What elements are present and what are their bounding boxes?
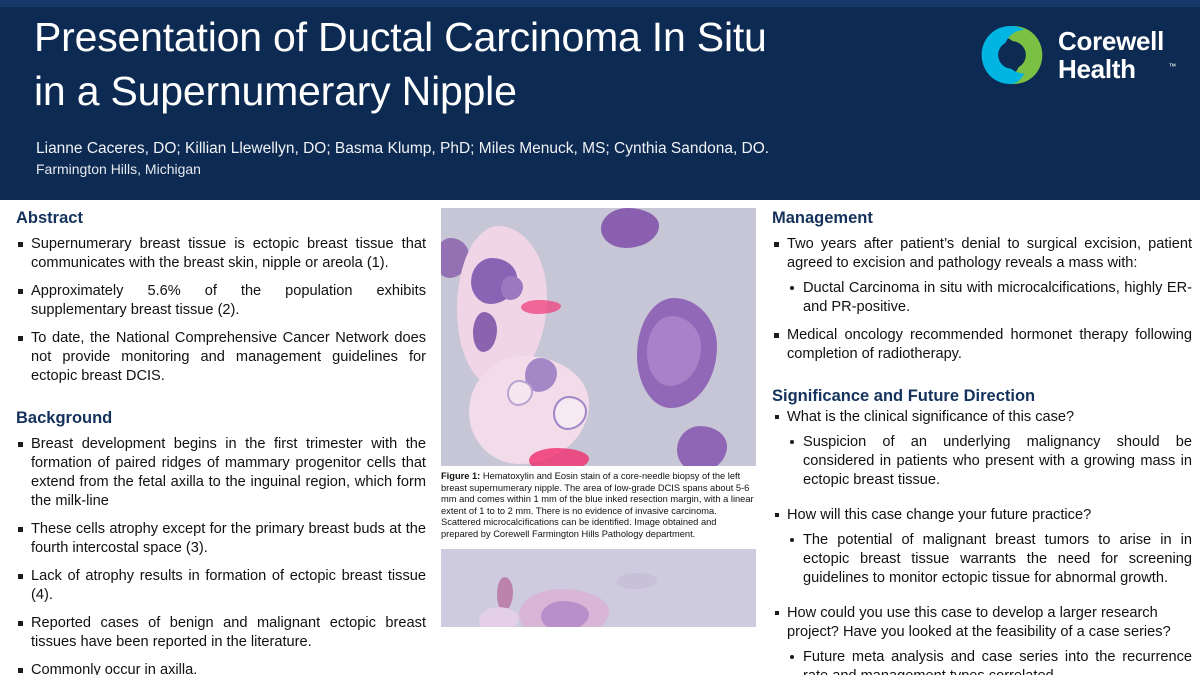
corewell-health-logo: Corewell Health ™ (979, 22, 1164, 88)
management-sub-list: Ductal Carcinoma in situ with microcalci… (787, 279, 1192, 317)
list-item-text: How could you use this case to develop a… (787, 605, 1171, 640)
poster-header: Presentation of Ductal Carcinoma In Situ… (0, 0, 1200, 200)
significance-question-list-2: How will this case change your future pr… (772, 506, 1192, 588)
list-item: Suspicion of an underlying malignancy sh… (787, 433, 1192, 490)
section-spacer (772, 497, 1192, 506)
tissue-fragment (521, 300, 561, 314)
tissue-fragment (497, 577, 513, 611)
section-heading-management: Management (772, 208, 1192, 229)
list-item: Lack of atrophy results in formation of … (16, 567, 426, 605)
histology-image-1 (441, 208, 756, 466)
abstract-bullet-list: Supernumerary breast tissue is ectopic b… (16, 235, 426, 386)
corewell-swoosh-icon (979, 22, 1045, 88)
list-item: Breast development begins in the first t… (16, 435, 426, 511)
section-spacer (16, 395, 426, 408)
list-item: How could you use this case to develop a… (772, 604, 1192, 675)
logo-word-corewell: Corewell (1058, 27, 1164, 55)
list-item: Future meta analysis and case series int… (787, 648, 1192, 675)
list-item: Ductal Carcinoma in situ with microcalci… (787, 279, 1192, 317)
list-item: Reported cases of benign and malignant e… (16, 614, 426, 652)
list-item-text: Two years after patient’s denial to surg… (787, 236, 1192, 271)
tissue-fragment (601, 208, 659, 248)
poster-canvas: Presentation of Ductal Carcinoma In Situ… (0, 0, 1200, 675)
significance-answer-list: Future meta analysis and case series int… (787, 648, 1192, 675)
section-spacer (772, 373, 1192, 386)
figure-label: Figure 1: (441, 471, 480, 481)
list-item: Two years after patient’s denial to surg… (772, 235, 1192, 317)
tissue-fragment (617, 573, 657, 589)
figure-caption-text: Hematoxylin and Eosin stain of a core-ne… (441, 471, 754, 539)
author-list: Lianne Caceres, DO; Killian Llewellyn, D… (36, 138, 966, 159)
list-item: How will this case change your future pr… (772, 506, 1192, 588)
header-top-stripe (0, 0, 1200, 7)
trademark-symbol: ™ (1168, 53, 1176, 81)
figure-1-caption: Figure 1: Hematoxylin and Eosin stain of… (441, 471, 756, 541)
logo-wordmark: Corewell Health ™ (1058, 27, 1164, 83)
significance-question-list-3: How could you use this case to develop a… (772, 604, 1192, 675)
tissue-fragment (677, 426, 727, 466)
page-title: Presentation of Ductal Carcinoma In Situ… (34, 10, 954, 118)
list-item: Supernumerary breast tissue is ectopic b… (16, 235, 426, 273)
tissue-fragment (541, 601, 589, 627)
list-item: These cells atrophy except for the prima… (16, 520, 426, 558)
significance-answer-list: The potential of malignant breast tumors… (787, 531, 1192, 588)
affiliation-text: Farmington Hills, Michigan (36, 160, 966, 179)
list-item: What is the clinical significance of thi… (772, 408, 1192, 490)
section-heading-background: Background (16, 408, 426, 429)
section-spacer (772, 595, 1192, 604)
list-item: The potential of malignant breast tumors… (787, 531, 1192, 588)
list-item-text: What is the clinical significance of thi… (787, 409, 1074, 425)
list-item: Approximately 5.6% of the population exh… (16, 282, 426, 320)
tissue-fragment (529, 448, 589, 466)
section-heading-significance: Significance and Future Direction (772, 386, 1192, 407)
list-item-text: How will this case change your future pr… (787, 507, 1091, 523)
significance-answer-list: Suspicion of an underlying malignancy sh… (787, 433, 1192, 490)
logo-word-health: Health (1058, 55, 1164, 83)
tissue-fragment (479, 607, 519, 627)
background-bullet-list: Breast development begins in the first t… (16, 435, 426, 675)
significance-question-list-1: What is the clinical significance of thi… (772, 408, 1192, 490)
histology-image-2 (441, 549, 756, 627)
left-content-column: Abstract Supernumerary breast tissue is … (16, 208, 426, 675)
section-heading-abstract: Abstract (16, 208, 426, 229)
right-content-column: Management Two years after patient’s den… (772, 208, 1192, 675)
list-item: Commonly occur in axilla. (16, 661, 426, 675)
figure-column: Figure 1: Hematoxylin and Eosin stain of… (441, 208, 756, 675)
list-item: Medical oncology recommended hormonet th… (772, 326, 1192, 364)
management-bullet-list: Two years after patient’s denial to surg… (772, 235, 1192, 364)
list-item: To date, the National Comprehensive Canc… (16, 329, 426, 386)
